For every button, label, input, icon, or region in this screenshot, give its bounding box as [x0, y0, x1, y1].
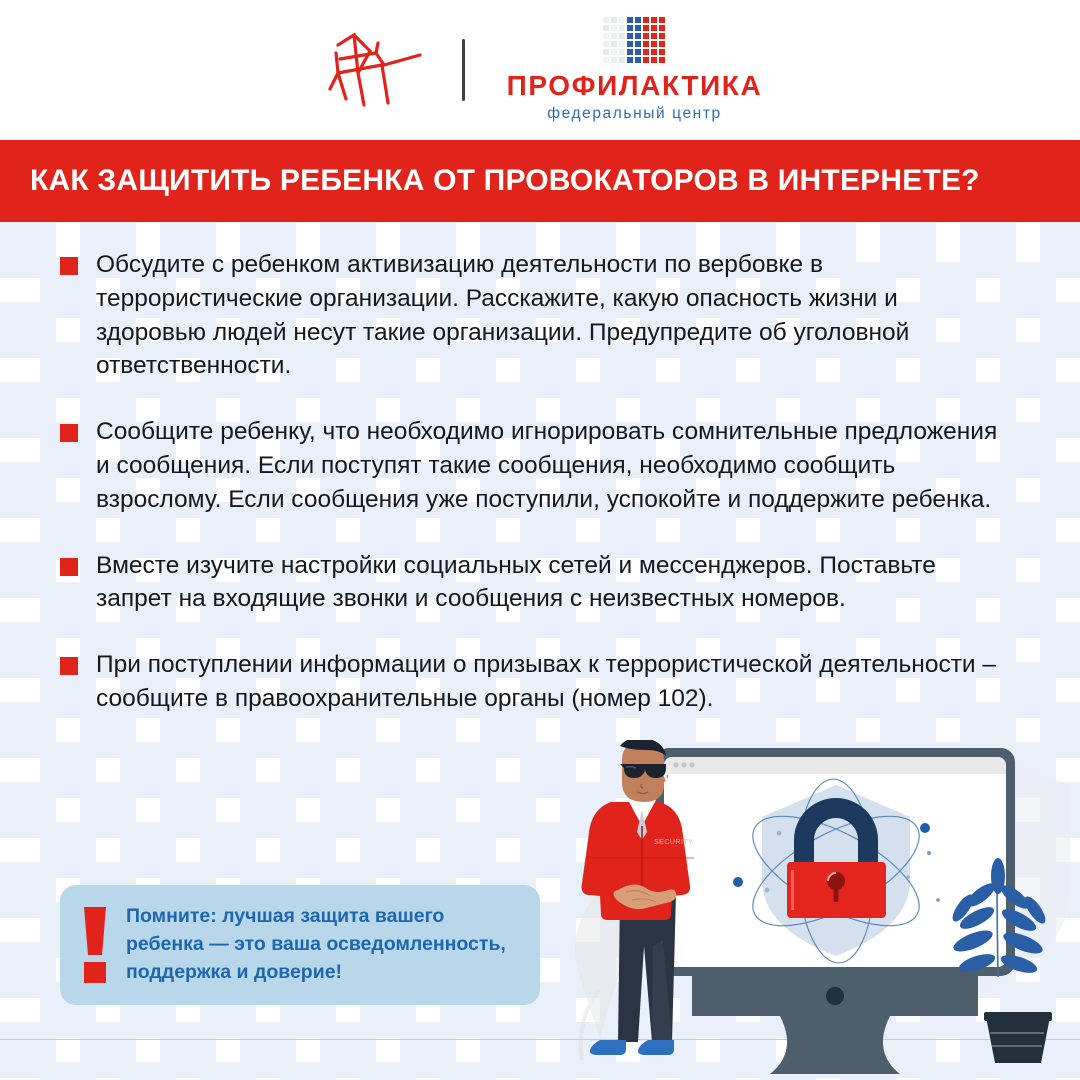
brand-grid-cell: [611, 17, 617, 23]
advice-item: При поступлении информации о призывах к …: [60, 648, 1020, 716]
brand-grid-cell: [611, 33, 617, 39]
bullet-square-icon: [60, 558, 78, 576]
advice-item-text: При поступлении информации о призывах к …: [96, 648, 1001, 716]
brand-grid-cell: [635, 57, 641, 63]
orbit-dot: [733, 877, 743, 887]
page-title: КАК ЗАЩИТИТЬ РЕБЕНКА ОТ ПРОВОКАТОРОВ В И…: [0, 164, 980, 198]
security-illustration: SECURITY: [580, 740, 1080, 1080]
brand-grid-cell: [643, 41, 649, 47]
brand-grid-cell: [659, 57, 665, 63]
brand-grid-cell: [635, 49, 641, 55]
exclamation-mark-icon: [82, 907, 108, 983]
logo-divider: [462, 39, 465, 101]
exclamation-dot: [84, 962, 106, 983]
exclamation-bar: [84, 907, 106, 955]
advice-item: Вместе изучите настройки социальных сете…: [60, 549, 1020, 617]
svg-text:SECURITY: SECURITY: [654, 839, 693, 846]
brand-grid-cell: [643, 57, 649, 63]
advice-item: Обсудите с ребенком активизацию деятельн…: [60, 248, 1020, 383]
brand-grid-cell: [619, 25, 625, 31]
advice-item-text: Вместе изучите настройки социальных сете…: [96, 549, 1001, 617]
advice-item: Сообщите ребенку, что необходимо игнорир…: [60, 415, 1020, 516]
bullet-square-icon: [60, 657, 78, 675]
brand-grid-cell: [611, 49, 617, 55]
brand-grid-cell: [611, 41, 617, 47]
brand-grid-cell: [619, 57, 625, 63]
brand-grid-cell: [627, 25, 633, 31]
brand-grid-cell: [635, 17, 641, 23]
brand-grid-cell: [659, 41, 665, 47]
brand-grid-cell: [619, 17, 625, 23]
orbit-dot: [777, 831, 782, 836]
brand-grid-icon: [603, 17, 665, 63]
brand-grid-cell: [611, 25, 617, 31]
brand-block: ПРОФИЛАКТИКА федеральный центр: [507, 17, 763, 123]
brand-grid-cell: [659, 17, 665, 23]
brand-grid-cell: [635, 33, 641, 39]
brand-grid-cell: [627, 49, 633, 55]
brand-grid-cell: [627, 57, 633, 63]
brand-grid-cell: [627, 17, 633, 23]
title-band: КАК ЗАЩИТИТЬ РЕБЕНКА ОТ ПРОВОКАТОРОВ В И…: [0, 140, 1080, 222]
remember-callout: Помните: лучшая защита вашего ребенка — …: [60, 885, 540, 1005]
brand-grid-cell: [659, 49, 665, 55]
brand-grid-cell: [603, 41, 609, 47]
orbit-dot: [906, 875, 910, 879]
infographic-poster: SECURITY: [0, 0, 1080, 1080]
brand-grid-cell: [651, 33, 657, 39]
orbit-dot: [927, 851, 931, 855]
brand-grid-cell: [603, 33, 609, 39]
brand-grid-cell: [651, 25, 657, 31]
brand-grid-cell: [603, 17, 609, 23]
brand-grid-cell: [611, 57, 617, 63]
brand-grid-cell: [643, 33, 649, 39]
brand-subtitle: федеральный центр: [547, 105, 722, 123]
brand-grid-cell: [651, 41, 657, 47]
brand-grid-cell: [643, 49, 649, 55]
brand-header: ПРОФИЛАКТИКА федеральный центр: [0, 0, 1080, 140]
brand-grid-cell: [651, 57, 657, 63]
brand-grid-cell: [643, 25, 649, 31]
orbit-dot: [936, 898, 940, 902]
brand-grid-cell: [603, 49, 609, 55]
brand-grid-cell: [603, 57, 609, 63]
brand-grid-cell: [619, 33, 625, 39]
brand-grid-cell: [643, 17, 649, 23]
advice-item-text: Сообщите ребенку, что необходимо игнорир…: [96, 415, 1001, 516]
brand-grid-cell: [651, 49, 657, 55]
callout-text: Помните: лучшая защита вашего ребенка — …: [126, 903, 518, 986]
brand-grid-cell: [619, 41, 625, 47]
advice-list: Обсудите с ребенком активизацию деятельн…: [60, 248, 1020, 748]
brand-grid-cell: [651, 17, 657, 23]
brand-name: ПРОФИЛАКТИКА: [507, 72, 763, 100]
brand-grid-cell: [603, 25, 609, 31]
bullet-square-icon: [60, 257, 78, 275]
orbit-dot: [920, 823, 930, 833]
chair-sketch-logo-icon: [318, 25, 428, 115]
orbit-dot: [765, 888, 770, 893]
brand-grid-cell: [659, 25, 665, 31]
brand-grid-cell: [619, 49, 625, 55]
brand-grid-cell: [627, 41, 633, 47]
bullet-square-icon: [60, 424, 78, 442]
brand-grid-cell: [659, 33, 665, 39]
brand-grid-cell: [635, 25, 641, 31]
brand-grid-cell: [627, 33, 633, 39]
advice-item-text: Обсудите с ребенком активизацию деятельн…: [96, 248, 1001, 383]
brand-grid-cell: [635, 41, 641, 47]
